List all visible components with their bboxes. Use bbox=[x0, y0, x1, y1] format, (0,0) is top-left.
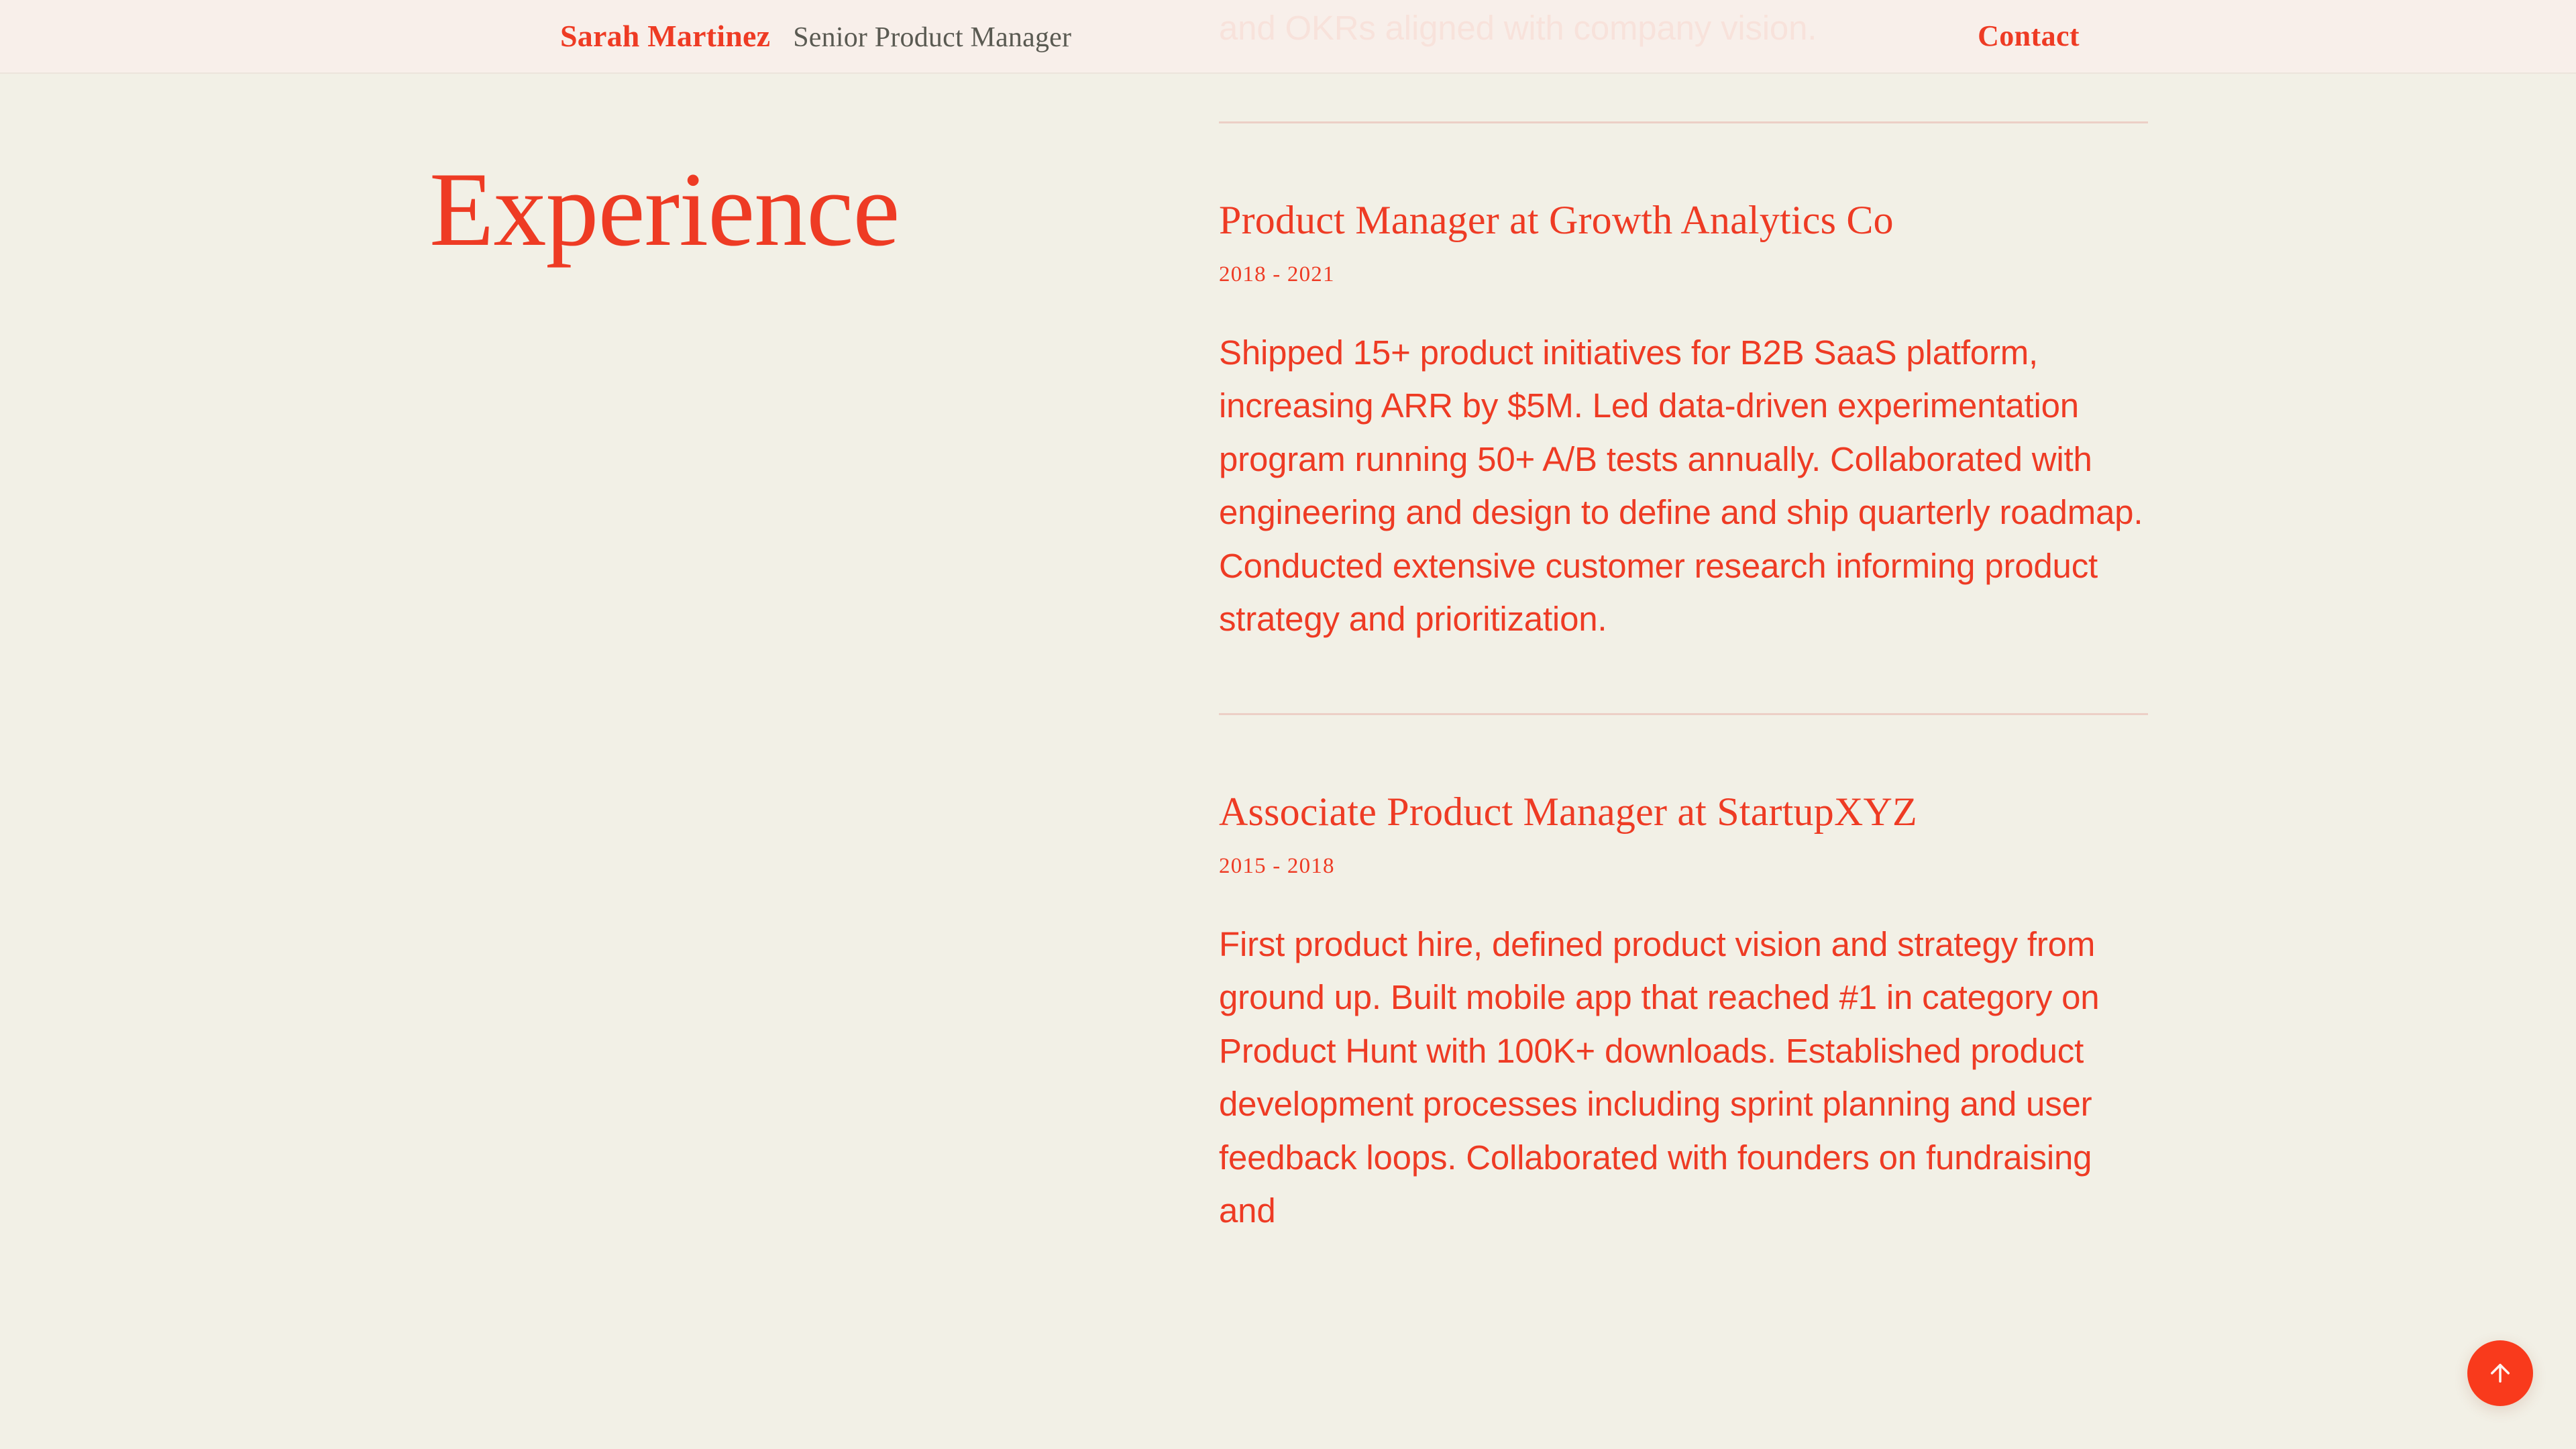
header-identity[interactable]: Sarah Martinez Senior Product Manager bbox=[560, 21, 1071, 52]
page-title: Experience bbox=[429, 154, 900, 266]
experience-description: First product hire, defined product visi… bbox=[1219, 918, 2148, 1238]
experience-title: Associate Product Manager at StartupXYZ bbox=[1219, 788, 2148, 836]
experience-title: Product Manager at Growth Analytics Co bbox=[1219, 196, 2148, 244]
site-header: Sarah Martinez Senior Product Manager Co… bbox=[0, 0, 2576, 74]
arrow-up-icon bbox=[2486, 1359, 2514, 1387]
experience-list: engineers, designers, and analysts. Defi… bbox=[1219, 0, 2148, 1238]
header-nav: Contact bbox=[1978, 21, 2576, 51]
page-content: Experience engineers, designers, and ana… bbox=[0, 0, 2576, 1449]
brand-name[interactable]: Sarah Martinez bbox=[560, 21, 770, 52]
experience-divider bbox=[1219, 713, 2148, 715]
experience-dates: 2015 - 2018 bbox=[1219, 853, 2148, 880]
experience-divider bbox=[1219, 121, 2148, 123]
experience-dates: 2018 - 2021 bbox=[1219, 262, 2148, 288]
nav-link-contact[interactable]: Contact bbox=[1978, 21, 2080, 51]
experience-entry: Associate Product Manager at StartupXYZ … bbox=[1219, 788, 2148, 1238]
brand-role: Senior Product Manager bbox=[793, 23, 1071, 52]
experience-description: Shipped 15+ product initiatives for B2B … bbox=[1219, 326, 2148, 646]
experience-entry: Product Manager at Growth Analytics Co 2… bbox=[1219, 196, 2148, 646]
scroll-to-top-button[interactable] bbox=[2467, 1340, 2533, 1406]
